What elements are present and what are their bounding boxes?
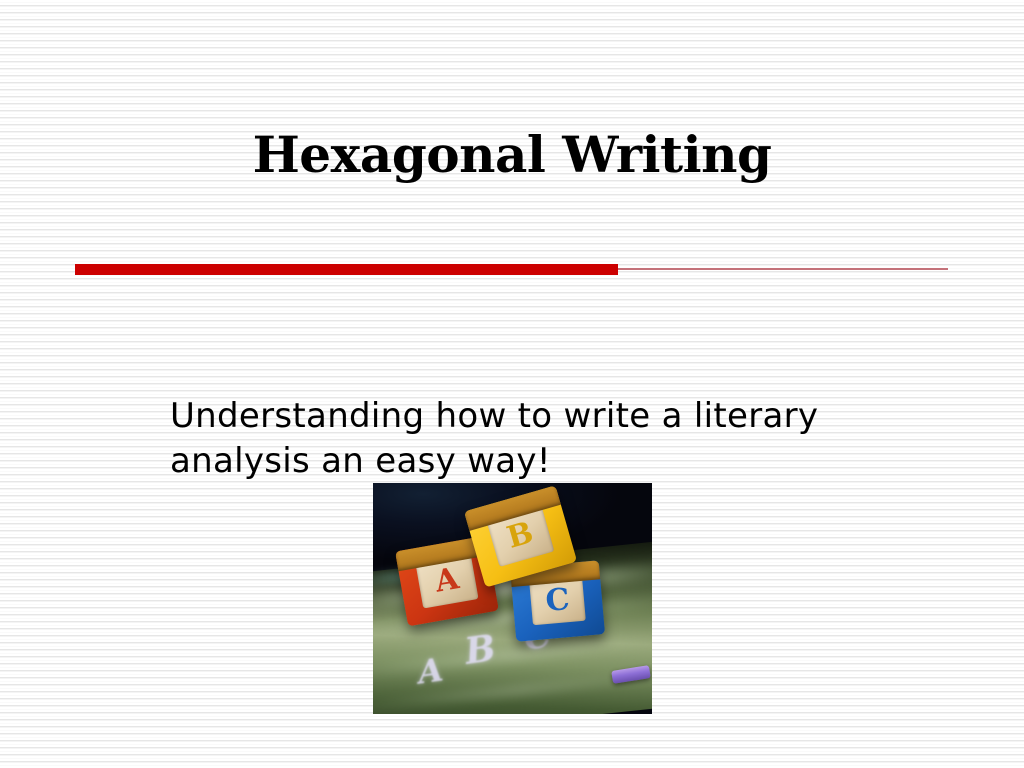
chalk-letter-a: A — [415, 650, 445, 691]
slide-title: Hexagonal Writing — [0, 126, 1024, 184]
slide-subtitle: Understanding how to write a literary an… — [170, 394, 870, 484]
presentation-slide: Hexagonal Writing Understanding how to w… — [0, 0, 1024, 768]
chalk-letter-b: B — [462, 627, 498, 673]
photo-scene: A B C A C — [373, 483, 652, 714]
title-divider — [75, 264, 948, 276]
block-a-letter: A — [433, 564, 461, 598]
block-b-letter: B — [505, 518, 538, 554]
divider-thick-bar — [75, 264, 618, 275]
abc-blocks-photo: A B C A C — [373, 483, 652, 714]
block-c-letter: C — [544, 585, 570, 617]
